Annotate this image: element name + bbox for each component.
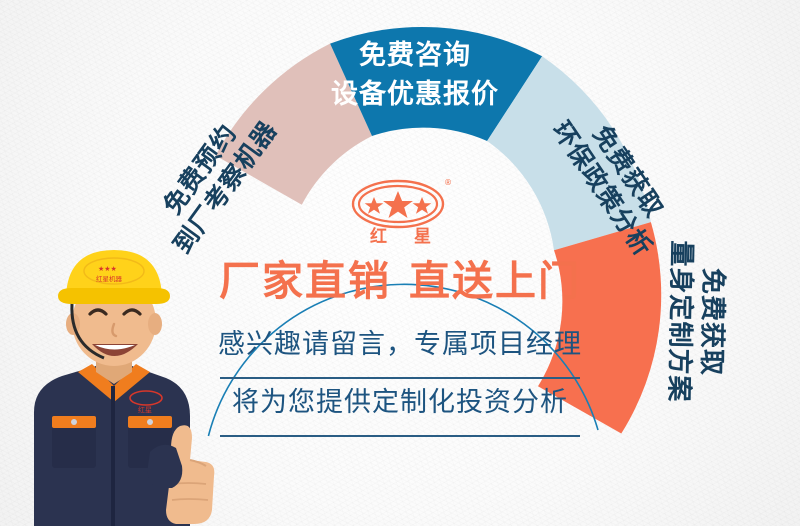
center-content: ® 红 星 厂家直销直送上门 感兴趣请留言，专属项目经理 将为您提供定制化投资分… (188, 176, 612, 437)
svg-text:红星机器: 红星机器 (96, 274, 123, 283)
page-title: 厂家直销直送上门 (188, 258, 612, 305)
logo-wordmark-right: 星 (414, 227, 431, 247)
promo-banner: 免费预约 到厂考察机器 免费咨询 设备优惠报价 免费获取 环保政策分析 免费获取… (0, 0, 800, 526)
logo-wordmark-left: 红 (370, 226, 387, 247)
divider-2 (220, 435, 580, 437)
hongxing-logo-icon: ® 红 星 (340, 176, 460, 250)
headline-part-2: 直送上门 (409, 257, 581, 305)
subline-1: 感兴趣请留言，专属项目经理 (188, 321, 612, 368)
smiling-worker-thumbs-up-icon: 红星 ★★★ 红星机器 (0, 226, 215, 526)
brand-logo: ® 红 星 (340, 176, 460, 250)
headline-part-1: 厂家直销 (219, 257, 391, 305)
worker-photo: 红星 ★★★ 红星机器 (0, 226, 215, 526)
svg-text:★★★: ★★★ (98, 265, 117, 273)
svg-text:红星: 红星 (138, 405, 152, 414)
svg-text:®: ® (444, 178, 452, 187)
subline-2: 将为您提供定制化投资分析 (188, 379, 612, 426)
